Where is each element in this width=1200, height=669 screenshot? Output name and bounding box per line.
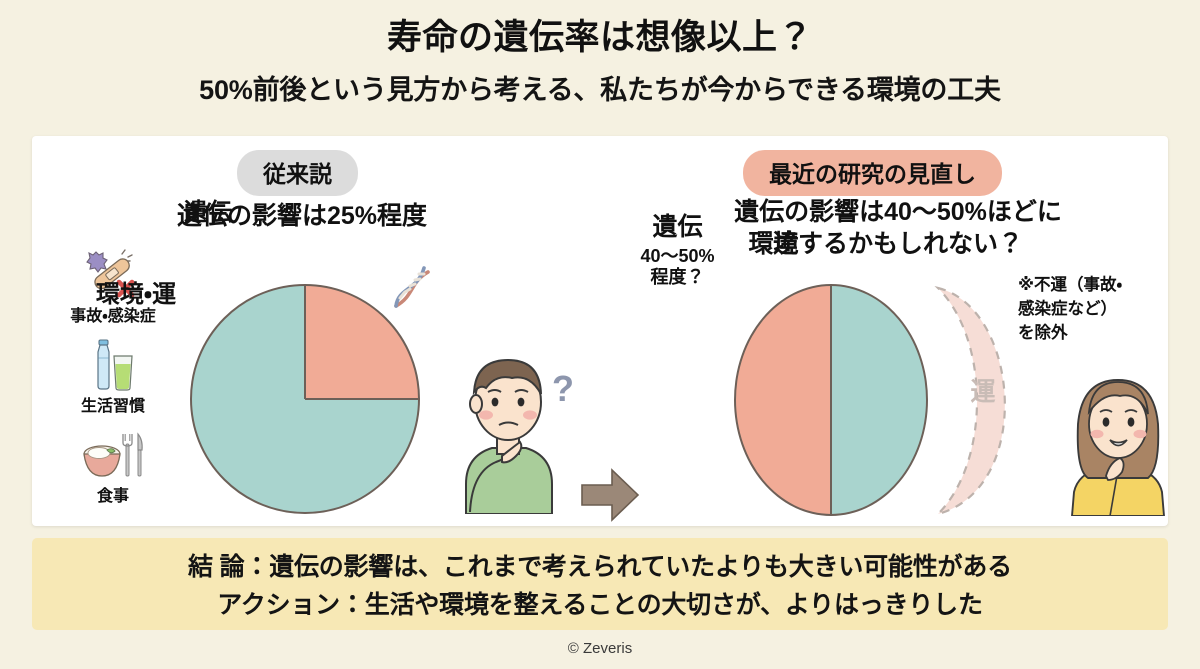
pie-slice-label-genes: 遺伝 <box>164 192 252 227</box>
conventional-headline: 遺伝の影響は25%程度 <box>32 200 572 232</box>
pie-divider-vertical <box>304 284 306 399</box>
pie-slice-label-environment: 環境 <box>726 224 821 260</box>
question-mark-icon: ? <box>552 368 574 410</box>
genes-label-approx: 程度？ <box>630 267 725 289</box>
page-title: 寿命の遺伝率は想像以上？ <box>0 18 1200 58</box>
footnote-line2: 感染症など） <box>1018 298 1178 322</box>
pie-slice-label-genes: 遺伝 40〜50% 程度？ <box>630 214 725 289</box>
dna-helix-icon <box>384 248 440 310</box>
pie-divider-horizontal <box>305 398 420 400</box>
status-badge-conventional: 従来説 <box>237 150 358 196</box>
conventional-theory-column: 従来説 遺伝の影響は25%程度 <box>32 136 572 526</box>
pie-slice-label-environment: 環境・運 <box>46 274 226 309</box>
conclusion-box: 結 論：遺伝の影響は、これまで考えられていたよりも大きい可能性がある アクション… <box>32 538 1168 630</box>
genes-label-percent: 40〜50% <box>630 245 725 268</box>
conclusion-line: 結 論：遺伝の影響は、これまで考えられていたよりも大きい可能性がある <box>32 549 1168 587</box>
recent-pie-chart <box>734 284 928 516</box>
list-item-label: 生活習慣 <box>54 392 172 416</box>
list-item: 生活習慣 <box>54 338 172 416</box>
smiling-woman-illustration <box>1066 366 1170 516</box>
action-line: アクション：生活や環境を整えることの大切さが、よりはっきりした <box>32 587 1168 625</box>
copyright-credit: © Zeveris <box>0 640 1200 657</box>
footnote-line3: を除外 <box>1018 322 1178 346</box>
footnote-line1: ※不運（事故・ <box>1018 274 1178 298</box>
list-item: 食事 <box>54 428 172 506</box>
thinking-man-illustration <box>452 344 564 514</box>
list-item-label: 食事 <box>54 482 172 506</box>
pie-divider-vertical <box>830 284 832 516</box>
page-subtitle: 50%前後という見方から考える、私たちが今からできる環境の工夫 <box>0 68 1200 107</box>
conventional-pie-chart <box>190 284 420 514</box>
comparison-panel: 従来説 遺伝の影響は25%程度 <box>32 136 1168 526</box>
pie-slice-label-luck: 運 <box>928 372 1038 408</box>
lifestyle-icon <box>54 338 172 394</box>
genes-label-main: 遺伝 <box>630 214 725 242</box>
status-badge-recent: 最近の研究の見直し <box>743 150 1002 196</box>
exclusion-footnote: ※不運（事故・ 感染症など） を除外 <box>1018 274 1178 346</box>
recent-research-column: 最近の研究の見直し 遺伝の影響は40〜50%ほどに 達するかもしれない？ 運 遺… <box>628 136 1168 526</box>
header: 寿命の遺伝率は想像以上？ 50%前後という見方から考える、私たちが今からできる環… <box>0 0 1200 107</box>
diet-icon <box>54 428 172 484</box>
